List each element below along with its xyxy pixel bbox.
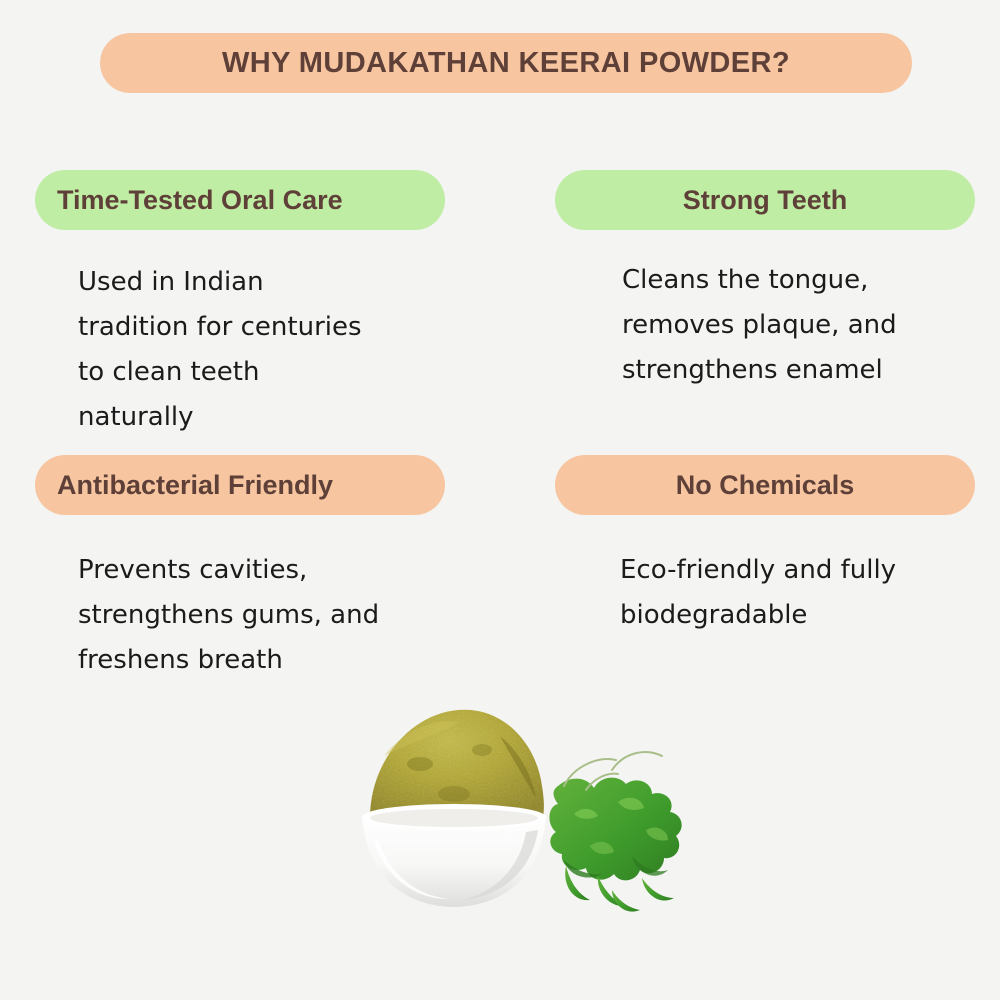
infographic-canvas: WHY MUDAKATHAN KEERAI POWDER? Time-Teste…: [0, 0, 1000, 1000]
feature-description-time-tested-oral-care: Used in Indian tradition for centuries t…: [78, 260, 448, 440]
feature-pill-strong-teeth: Strong Teeth: [555, 170, 975, 230]
page-title-pill: WHY MUDAKATHAN KEERAI POWDER?: [100, 33, 912, 93]
product-photo: [350, 690, 710, 920]
feature-pill-antibacterial-friendly: Antibacterial Friendly: [35, 455, 445, 515]
page-title: WHY MUDAKATHAN KEERAI POWDER?: [222, 47, 790, 80]
feature-label: Antibacterial Friendly: [57, 470, 333, 501]
white-bowl: [362, 804, 546, 907]
feature-description-no-chemicals: Eco-friendly and fully biodegradable: [620, 548, 980, 638]
feature-label: No Chemicals: [676, 470, 855, 501]
fresh-keerai-leaves: [549, 778, 681, 912]
feature-label: Strong Teeth: [683, 185, 848, 216]
powder-mound: [370, 710, 544, 820]
feature-pill-time-tested-oral-care: Time-Tested Oral Care: [35, 170, 445, 230]
feature-description-strong-teeth: Cleans the tongue, removes plaque, and s…: [622, 258, 982, 393]
feature-pill-no-chemicals: No Chemicals: [555, 455, 975, 515]
feature-description-antibacterial-friendly: Prevents cavities, strengthens gums, and…: [78, 548, 453, 683]
bowl-with-powder-and-leaves-illustration: [350, 690, 710, 920]
feature-label: Time-Tested Oral Care: [57, 185, 343, 216]
